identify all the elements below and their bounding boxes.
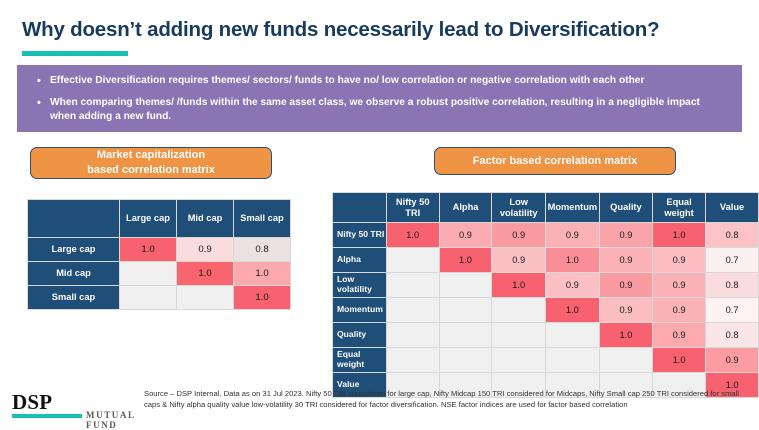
factor-matrix-row: Quality1.00.90.8 bbox=[333, 323, 759, 348]
logo-subtitle: MUTUAL FUND bbox=[86, 410, 138, 430]
factor-matrix-value-cell: 0.9 bbox=[599, 248, 652, 273]
factor-matrix-value-cell: 0.9 bbox=[653, 298, 706, 323]
market-cap-matrix-row-header: Large cap bbox=[28, 238, 120, 262]
market-cap-matrix-row: Large cap1.00.90.8 bbox=[28, 238, 291, 262]
factor-matrix-row-header: Alpha bbox=[333, 248, 387, 273]
factor-matrix-value-cell: 1.0 bbox=[492, 273, 545, 298]
factor-matrix-row-header: Nifty 50 TRI bbox=[333, 223, 387, 248]
factor-matrix-value-cell bbox=[386, 248, 439, 273]
factor-matrix-value-cell: 1.0 bbox=[653, 223, 706, 248]
factor-matrix-value-cell: 0.9 bbox=[653, 273, 706, 298]
factor-matrix-row: Alpha1.00.91.00.90.90.7 bbox=[333, 248, 759, 273]
factor-matrix-row-header: Momentum bbox=[333, 298, 387, 323]
market-cap-matrix-value-cell: 0.8 bbox=[234, 238, 291, 262]
market-cap-matrix-row: Small cap1.0 bbox=[28, 286, 291, 310]
factor-matrix-value-cell: 1.0 bbox=[599, 323, 652, 348]
factor-matrix-corner-cell bbox=[333, 193, 387, 223]
factor-matrix-value-cell bbox=[492, 298, 545, 323]
factor-matrix-column-header: Value bbox=[706, 193, 759, 223]
market-cap-matrix-value-cell: 1.0 bbox=[234, 286, 291, 310]
factor-matrix-value-cell: 0.7 bbox=[706, 248, 759, 273]
title-accent-rule bbox=[22, 51, 128, 56]
market-cap-matrix-row: Mid cap1.01.0 bbox=[28, 262, 291, 286]
factor-matrix-value-cell: 0.9 bbox=[653, 248, 706, 273]
factor-matrix-value-cell bbox=[439, 323, 492, 348]
left-matrix-title-line1: Market capitalization bbox=[87, 148, 215, 163]
factor-matrix-value-cell bbox=[492, 348, 545, 373]
factor-matrix-value-cell bbox=[386, 298, 439, 323]
market-cap-matrix-value-cell: 1.0 bbox=[120, 238, 177, 262]
factor-matrix-value-cell: 0.9 bbox=[439, 223, 492, 248]
market-cap-matrix-value-cell bbox=[120, 286, 177, 310]
left-matrix-title-pill: Market capitalization based correlation … bbox=[30, 147, 272, 179]
bullet-dot-icon: • bbox=[33, 96, 50, 110]
factor-matrix-row-header: Low volatility bbox=[333, 273, 387, 298]
factor-matrix-value-cell bbox=[386, 348, 439, 373]
page-title: Why doesn’t adding new funds necessarily… bbox=[22, 18, 659, 42]
market-cap-matrix-row-header: Mid cap bbox=[28, 262, 120, 286]
market-cap-matrix-value-cell bbox=[120, 262, 177, 286]
factor-matrix-column-header: Momentum bbox=[545, 193, 599, 223]
factor-matrix-column-header: Nifty 50 TRI bbox=[386, 193, 439, 223]
factor-matrix-value-cell: 0.9 bbox=[545, 223, 599, 248]
factor-matrix-value-cell: 0.9 bbox=[706, 348, 759, 373]
source-note: Source – DSP Internal, Data as on 31 Jul… bbox=[144, 389, 752, 411]
factor-matrix-value-cell bbox=[439, 348, 492, 373]
factor-matrix-header-row: Nifty 50 TRIAlphaLow volatilityMomentumQ… bbox=[333, 193, 759, 223]
factor-matrix-value-cell: 0.8 bbox=[706, 323, 759, 348]
market-cap-matrix-value-cell: 0.9 bbox=[177, 238, 234, 262]
market-cap-matrix-value-cell: 1.0 bbox=[177, 262, 234, 286]
factor-matrix-value-cell: 1.0 bbox=[439, 248, 492, 273]
market-cap-correlation-matrix: Large capMid capSmall capLarge cap1.00.9… bbox=[27, 199, 291, 310]
market-cap-matrix-value-cell: 1.0 bbox=[234, 262, 291, 286]
key-points-callout: • Effective Diversification requires the… bbox=[17, 65, 742, 132]
factor-matrix-value-cell: 1.0 bbox=[653, 348, 706, 373]
factor-matrix-value-cell bbox=[439, 273, 492, 298]
bullet-dot-icon: • bbox=[33, 74, 50, 88]
market-cap-matrix-column-header: Large cap bbox=[120, 200, 177, 238]
factor-matrix-value-cell: 0.9 bbox=[599, 273, 652, 298]
slide-root: Why doesn’t adding new funds necessarily… bbox=[0, 0, 759, 428]
bullet-item: • Effective Diversification requires the… bbox=[17, 65, 742, 88]
bullet-text: Effective Diversification requires theme… bbox=[50, 74, 726, 88]
factor-matrix-column-header: Quality bbox=[599, 193, 652, 223]
factor-matrix-value-cell: 1.0 bbox=[545, 298, 599, 323]
factor-matrix-row: Equal weight1.00.9 bbox=[333, 348, 759, 373]
factor-matrix-row-header: Equal weight bbox=[333, 348, 387, 373]
factor-matrix-value-cell: 0.8 bbox=[706, 273, 759, 298]
factor-matrix-column-header: Low volatility bbox=[492, 193, 545, 223]
factor-matrix-value-cell: 0.8 bbox=[706, 223, 759, 248]
market-cap-matrix-header-row: Large capMid capSmall cap bbox=[28, 200, 291, 238]
logo-accent-bar bbox=[12, 414, 82, 418]
bullet-text: When comparing themes/ /funds within the… bbox=[50, 96, 726, 124]
factor-matrix-value-cell: 0.9 bbox=[492, 223, 545, 248]
factor-matrix-value-cell bbox=[545, 323, 599, 348]
factor-matrix-value-cell: 0.9 bbox=[599, 223, 652, 248]
market-cap-matrix-corner-cell bbox=[28, 200, 120, 238]
factor-matrix-value-cell: 0.9 bbox=[653, 323, 706, 348]
factor-matrix-value-cell: 0.9 bbox=[545, 273, 599, 298]
factor-matrix-value-cell: 0.9 bbox=[599, 298, 652, 323]
left-matrix-title-line2: based correlation matrix bbox=[87, 163, 215, 178]
factor-matrix-value-cell: 1.0 bbox=[545, 248, 599, 273]
factor-matrix-value-cell bbox=[599, 348, 652, 373]
factor-matrix-row: Momentum1.00.90.90.7 bbox=[333, 298, 759, 323]
factor-matrix-value-cell bbox=[545, 348, 599, 373]
market-cap-matrix-row-header: Small cap bbox=[28, 286, 120, 310]
factor-matrix-value-cell bbox=[386, 323, 439, 348]
dsp-logo: DSP MUTUAL FUND bbox=[12, 392, 138, 418]
factor-matrix-value-cell: 0.9 bbox=[492, 248, 545, 273]
factor-correlation-matrix: Nifty 50 TRIAlphaLow volatilityMomentumQ… bbox=[332, 192, 759, 398]
factor-matrix-row: Nifty 50 TRI1.00.90.90.90.91.00.8 bbox=[333, 223, 759, 248]
factor-matrix-row: Low volatility1.00.90.90.90.8 bbox=[333, 273, 759, 298]
market-cap-matrix-column-header: Small cap bbox=[234, 200, 291, 238]
factor-matrix-value-cell bbox=[386, 273, 439, 298]
market-cap-matrix-column-header: Mid cap bbox=[177, 200, 234, 238]
market-cap-matrix-value-cell bbox=[177, 286, 234, 310]
factor-matrix-row-header: Quality bbox=[333, 323, 387, 348]
bullet-item: • When comparing themes/ /funds within t… bbox=[17, 88, 742, 124]
factor-matrix-value-cell bbox=[492, 323, 545, 348]
factor-matrix-column-header: Equal weight bbox=[653, 193, 706, 223]
factor-matrix-column-header: Alpha bbox=[439, 193, 492, 223]
factor-matrix-value-cell: 0.7 bbox=[706, 298, 759, 323]
factor-matrix-value-cell: 1.0 bbox=[386, 223, 439, 248]
right-matrix-title-line1: Factor based correlation matrix bbox=[473, 154, 637, 169]
right-matrix-title-pill: Factor based correlation matrix bbox=[434, 147, 676, 175]
factor-matrix-value-cell bbox=[439, 298, 492, 323]
